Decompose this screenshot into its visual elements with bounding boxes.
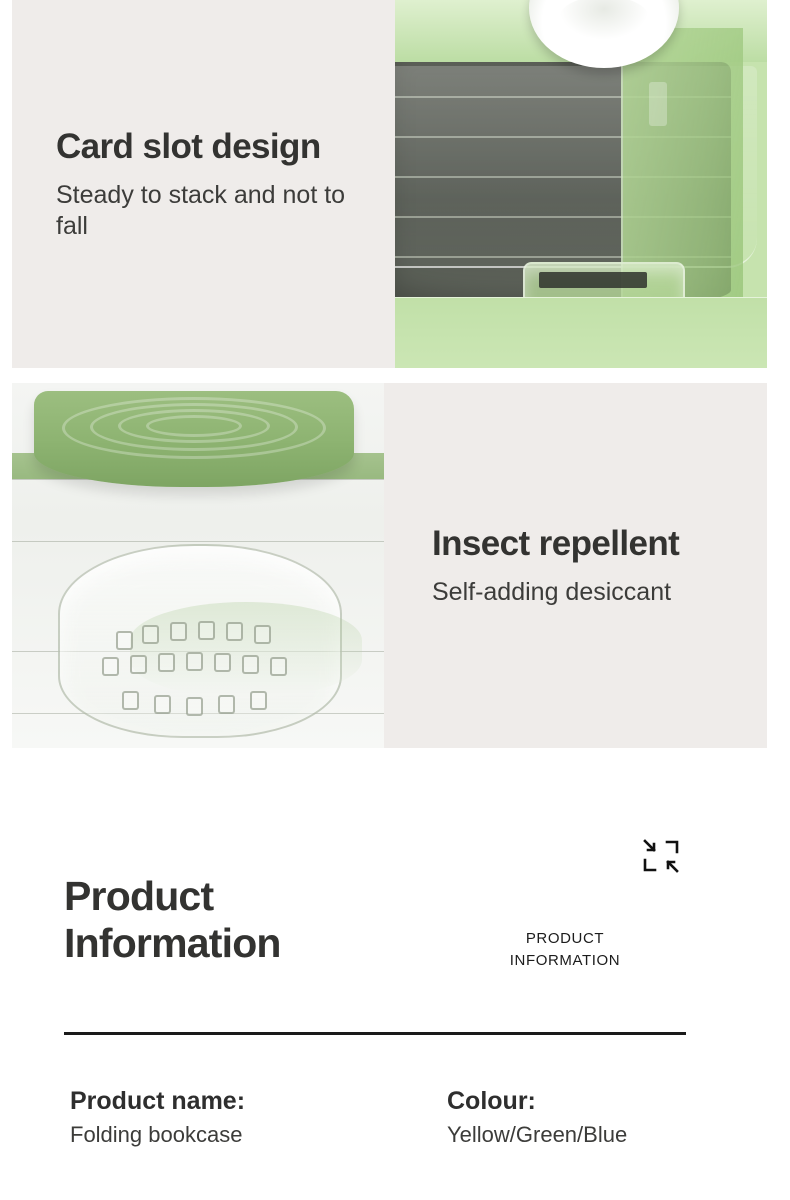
- spec-label: Product name:: [70, 1086, 380, 1116]
- product-information-subheading: PRODUCT INFORMATION: [445, 928, 685, 972]
- container-inner-shade: [130, 602, 362, 698]
- product-detail-page: Card slot design Steady to stack and not…: [0, 0, 790, 1200]
- feature-photo-insect-repellent: [12, 383, 384, 748]
- cabinet-lower-shelf: [395, 297, 767, 368]
- spec-label: Colour:: [447, 1086, 790, 1116]
- feature-title-insect-repellent: Insect repellent: [432, 524, 732, 563]
- spec-value: Folding bookcase: [70, 1122, 380, 1148]
- spec-table: Product name: Folding bookcase Colour: Y…: [0, 1086, 790, 1148]
- section-divider: [64, 1032, 686, 1035]
- feature-row-card-slot: Card slot design Steady to stack and not…: [12, 0, 767, 368]
- cabinet-side-column: [621, 28, 743, 298]
- spec-value: Yellow/Green/Blue: [447, 1122, 790, 1148]
- feature-text-panel-insect-repellent: Insect repellent Self-adding desiccant: [384, 383, 767, 748]
- feature-title-card-slot: Card slot design: [56, 127, 356, 166]
- clear-vented-container: [58, 544, 342, 738]
- feature-photo-card-slot: [395, 0, 767, 368]
- feature-subtitle-card-slot: Steady to stack and not to fall: [56, 180, 366, 241]
- collapse-arrows-icon: [641, 838, 681, 874]
- feature-text-panel-card-slot: Card slot design Steady to stack and not…: [12, 0, 395, 368]
- spec-cell-product-name: Product name: Folding bookcase: [0, 1086, 380, 1148]
- feature-subtitle-insect-repellent: Self-adding desiccant: [432, 577, 742, 608]
- green-spiral-lid: [34, 391, 354, 487]
- feature-row-insect-repellent: Insect repellent Self-adding desiccant: [12, 383, 767, 748]
- spec-cell-colour: Colour: Yellow/Green/Blue: [380, 1086, 790, 1148]
- product-information-heading: Product Information: [64, 873, 281, 966]
